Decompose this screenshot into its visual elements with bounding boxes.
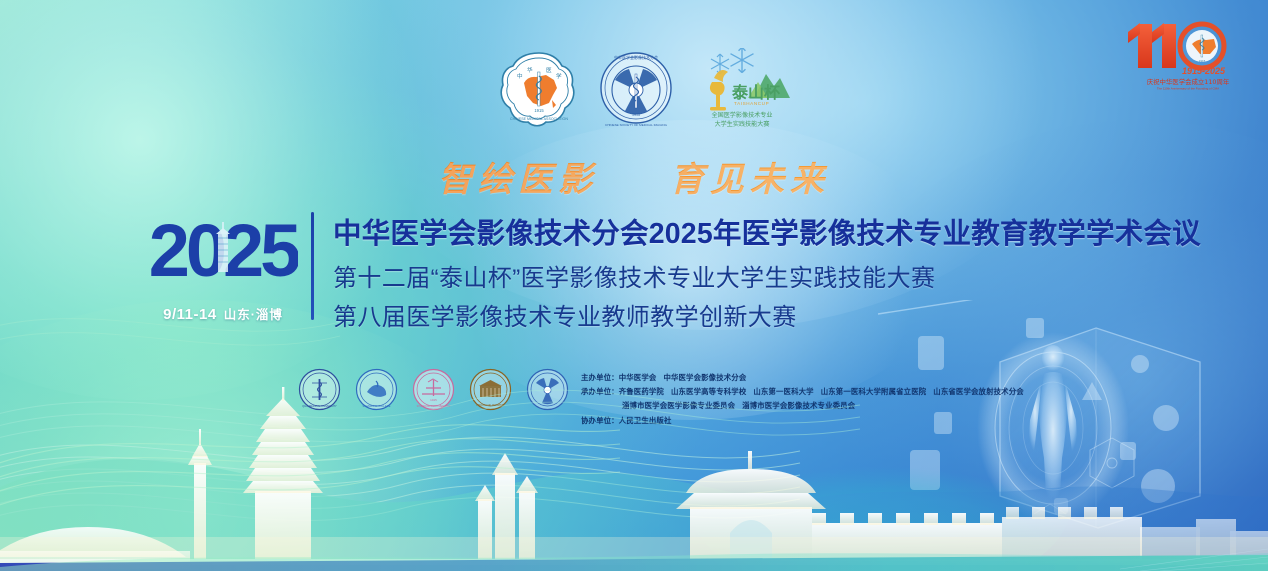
- cma-110-anniversary-logo: 1915 1915-2025 庆祝中华医学会成立110周年 The 110th …: [1118, 14, 1258, 90]
- year-2025-graphic: 2025: [148, 208, 298, 292]
- svg-text:1915: 1915: [632, 113, 640, 117]
- chinese-medical-association-seal: 1915 中华 医学 CHINESE MEDICAL ASSOCIATION: [500, 48, 578, 130]
- title-divider: [311, 212, 314, 320]
- svg-text:CHINESE MEDICAL ASSOCIATION: CHINESE MEDICAL ASSOCIATION: [510, 117, 568, 121]
- svg-text:CHINESE SOCIETY OF MEDICAL IMA: CHINESE SOCIETY OF MEDICAL IMAGING: [605, 123, 668, 127]
- conference-subtitle-1: 第十二届“泰山杯”医学影像技术专业大学生实践技能大赛: [333, 260, 1193, 299]
- svg-text:大学生实践技能大赛: 大学生实践技能大赛: [715, 120, 770, 128]
- svg-text:中: 中: [517, 72, 523, 80]
- svg-text:1915: 1915: [1199, 59, 1206, 63]
- slogan-left-text: 智绘医影: [438, 160, 598, 200]
- svg-text:1915-2025: 1915-2025: [1182, 66, 1226, 76]
- conference-main-title: 中华医学会影像技术分会2025年医学影像技术专业教育教学学术会议: [333, 216, 1193, 252]
- svg-text:泰山杯: 泰山杯: [731, 83, 781, 102]
- conference-banner: 1915 中华 医学 CHINESE MEDICAL ASSOCIATION: [0, 0, 1268, 571]
- svg-text:庆祝中华医学会成立110周年: 庆祝中华医学会成立110周年: [1147, 77, 1230, 86]
- svg-text:The 110th Anniversary of the F: The 110th Anniversary of the Founding of…: [1157, 86, 1219, 90]
- taishan-cup-logo: 泰山杯 TAISHANCUP 全国医学影像技术专业 大学生实践技能大赛: [694, 48, 790, 130]
- organizer-logos: 1915 中华 医学 CHINESE MEDICAL ASSOCIATION: [500, 48, 780, 138]
- svg-text:全国医学影像技术专业: 全国医学影像技术专业: [712, 111, 773, 119]
- svg-text:TAISHANCUP: TAISHANCUP: [734, 101, 769, 106]
- slogan-right-text: 育见未来: [670, 160, 830, 200]
- svg-text:学: 学: [556, 72, 562, 80]
- city-skyline-scene: [0, 311, 1268, 571]
- svg-text:医: 医: [546, 67, 552, 74]
- conference-slogan: 智绘医影 育见未来: [0, 152, 1268, 201]
- svg-text:华: 华: [527, 66, 533, 74]
- year-date-block: 2025 9/11-14山东·淄博: [148, 208, 298, 323]
- svg-text:中华医学会影像技术分会: 中华医学会影像技术分会: [614, 54, 658, 60]
- imaging-technology-branch-seal: 1915 中华医学会影像技术分会 CHINESE SOCIETY OF MEDI…: [596, 48, 676, 130]
- svg-text:1915: 1915: [534, 108, 544, 113]
